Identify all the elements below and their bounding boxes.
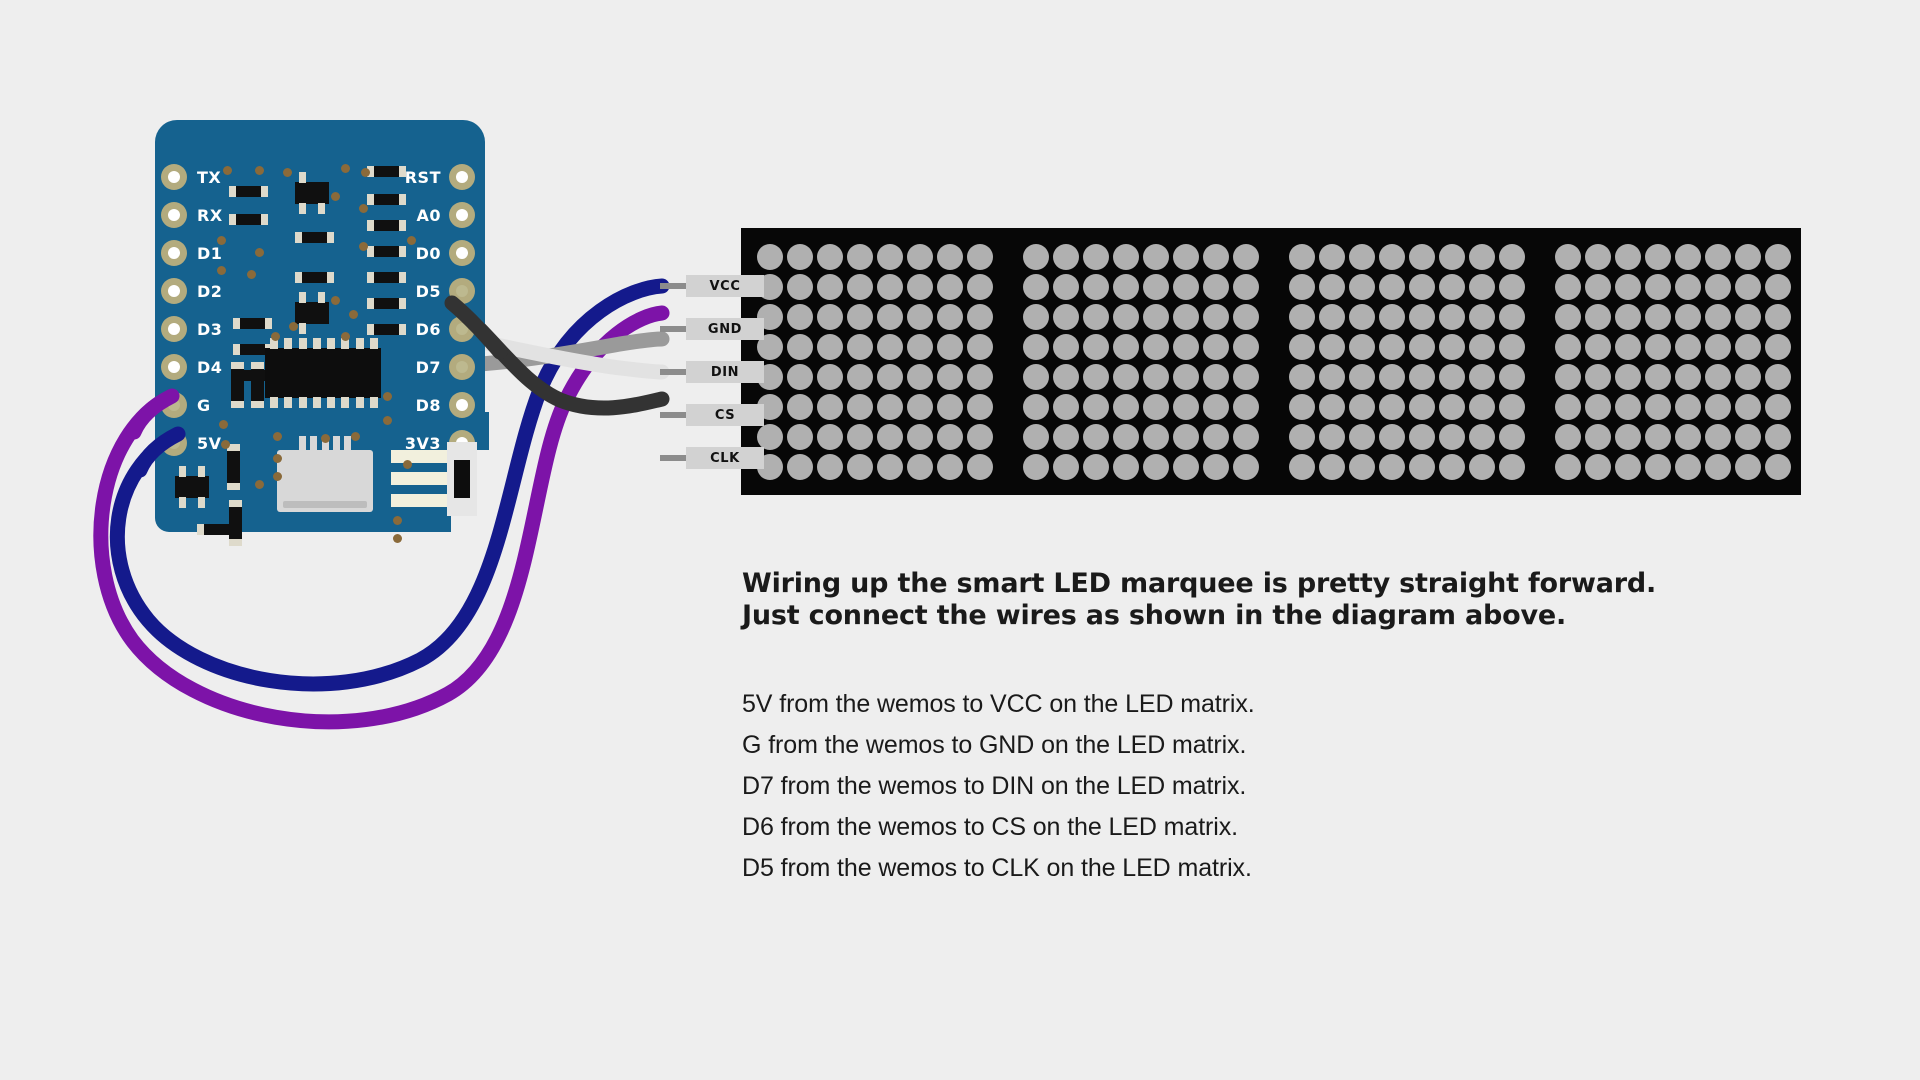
via-5 — [361, 168, 370, 177]
headline-line-2: Just connect the wires as shown in the d… — [742, 600, 1742, 632]
connector-stub-gnd — [660, 326, 688, 332]
connector-pad-clk: CLK — [686, 447, 764, 469]
smd-transistor-2 — [295, 302, 329, 324]
smd-regulator — [175, 476, 209, 498]
pin-label-5v: 5V — [197, 434, 222, 453]
via-3 — [283, 168, 292, 177]
pad-a0[interactable] — [449, 202, 475, 228]
connector-stub-din — [660, 369, 688, 375]
connector-label-vcc: VCC — [710, 279, 741, 294]
connector-stub-vcc — [660, 283, 688, 289]
via-7 — [217, 236, 226, 245]
pad-rx[interactable] — [161, 202, 187, 228]
smd-cap-2 — [251, 368, 264, 402]
pin-label-d3: D3 — [197, 320, 222, 339]
via-14 — [349, 310, 358, 319]
pad-d0[interactable] — [449, 240, 475, 266]
via-17 — [271, 332, 280, 341]
via-4 — [341, 164, 350, 173]
smd-cap-3 — [229, 506, 242, 540]
via-30 — [393, 516, 402, 525]
smd-ladder-6 — [373, 298, 400, 309]
via-13 — [331, 296, 340, 305]
via-20 — [383, 416, 392, 425]
via-31 — [393, 534, 402, 543]
via-9 — [217, 266, 226, 275]
headline-line-1: Wiring up the smart LED marquee is prett… — [742, 568, 1742, 600]
pin-label-d1: D1 — [197, 244, 222, 263]
headline: Wiring up the smart LED marquee is prett… — [742, 568, 1742, 632]
pad-d1[interactable] — [161, 240, 187, 266]
smd-ladder-2 — [373, 194, 400, 205]
pin-label-d7: D7 — [383, 358, 441, 377]
smd-resistor-8 — [203, 524, 230, 535]
via-27 — [321, 434, 330, 443]
wiring-item-5v: 5V from the wemos to VCC on the LED matr… — [742, 684, 1742, 725]
wiring-item-d6: D6 from the wemos to CS on the LED matri… — [742, 807, 1742, 848]
via-12 — [359, 242, 368, 251]
via-6 — [331, 192, 340, 201]
smd-resistor-2 — [235, 214, 262, 225]
connector-stub-clk — [660, 455, 688, 461]
diagram-canvas: VCC GND DIN CS CLK — [0, 0, 1920, 1080]
wiring-item-d5: D5 from the wemos to CLK on the LED matr… — [742, 848, 1742, 889]
smd-resistor-7 — [301, 272, 328, 283]
pin-label-g: G — [197, 396, 211, 415]
via-24 — [273, 472, 282, 481]
pin-label-d8: D8 — [383, 396, 441, 415]
pin-label-d4: D4 — [197, 358, 222, 377]
via-11 — [359, 204, 368, 213]
smd-ladder-7 — [373, 324, 400, 335]
smd-resistor-3 — [239, 318, 266, 329]
wiring-instruction-list: 5V from the wemos to VCC on the LED matr… — [742, 684, 1742, 889]
connector-label-gnd: GND — [708, 322, 742, 337]
via-25 — [255, 480, 264, 489]
wiring-item-g: G from the wemos to GND on the LED matri… — [742, 725, 1742, 766]
pad-d3[interactable] — [161, 316, 187, 342]
smd-cap-1 — [231, 368, 244, 402]
connector-stub-cs — [660, 412, 688, 418]
usb-lip — [283, 501, 367, 508]
via-15 — [407, 236, 416, 245]
via-29 — [403, 460, 412, 469]
via-2 — [255, 166, 264, 175]
via-16 — [289, 322, 298, 331]
pad-d5[interactable] — [449, 278, 475, 304]
via-18 — [341, 332, 350, 341]
pad-d7[interactable] — [449, 354, 475, 380]
via-19 — [383, 392, 392, 401]
wiring-item-d7: D7 from the wemos to DIN on the LED matr… — [742, 766, 1742, 807]
smd-transistor-1 — [295, 182, 329, 204]
via-26 — [221, 440, 230, 449]
smd-ladder-1 — [373, 166, 400, 177]
via-22 — [273, 432, 282, 441]
connector-pad-vcc: VCC — [686, 275, 764, 297]
antenna-module — [447, 442, 477, 516]
smd-ladder-3 — [373, 220, 400, 231]
wemos-d1-mini-board: TX RX D1 D2 D3 D4 G 5V RST A0 D0 D5 D6 D… — [155, 120, 485, 420]
connector-pad-gnd: GND — [686, 318, 764, 340]
pad-g[interactable] — [161, 392, 187, 418]
smd-resistor-6 — [301, 232, 328, 243]
via-10 — [247, 270, 256, 279]
smd-resistor-4 — [239, 344, 266, 355]
pad-rst[interactable] — [449, 164, 475, 190]
pin-label-d2: D2 — [197, 282, 222, 301]
pin-label-tx: TX — [197, 168, 221, 187]
pad-5v[interactable] — [161, 430, 187, 456]
smd-ladder-4 — [373, 246, 400, 257]
connector-label-cs: CS — [715, 408, 735, 423]
via-21 — [219, 420, 228, 429]
connector-pad-cs: CS — [686, 404, 764, 426]
connector-label-din: DIN — [711, 365, 739, 380]
via-8 — [255, 248, 264, 257]
via-1 — [223, 166, 232, 175]
smd-diode — [227, 450, 240, 484]
connector-label-clk: CLK — [710, 451, 740, 466]
micro-usb-connector — [277, 450, 373, 512]
pin-label-rx: RX — [197, 206, 223, 225]
pad-tx[interactable] — [161, 164, 187, 190]
smd-resistor-1 — [235, 186, 262, 197]
smd-ladder-5 — [373, 272, 400, 283]
pad-d6[interactable] — [449, 316, 475, 342]
esp8266-ic — [265, 348, 381, 398]
explanatory-text-block: Wiring up the smart LED marquee is prett… — [742, 568, 1742, 889]
pad-d8[interactable] — [449, 392, 475, 418]
pad-d4[interactable] — [161, 354, 187, 380]
via-23 — [273, 454, 282, 463]
pad-d2[interactable] — [161, 278, 187, 304]
connector-pad-din: DIN — [686, 361, 764, 383]
via-28 — [351, 432, 360, 441]
